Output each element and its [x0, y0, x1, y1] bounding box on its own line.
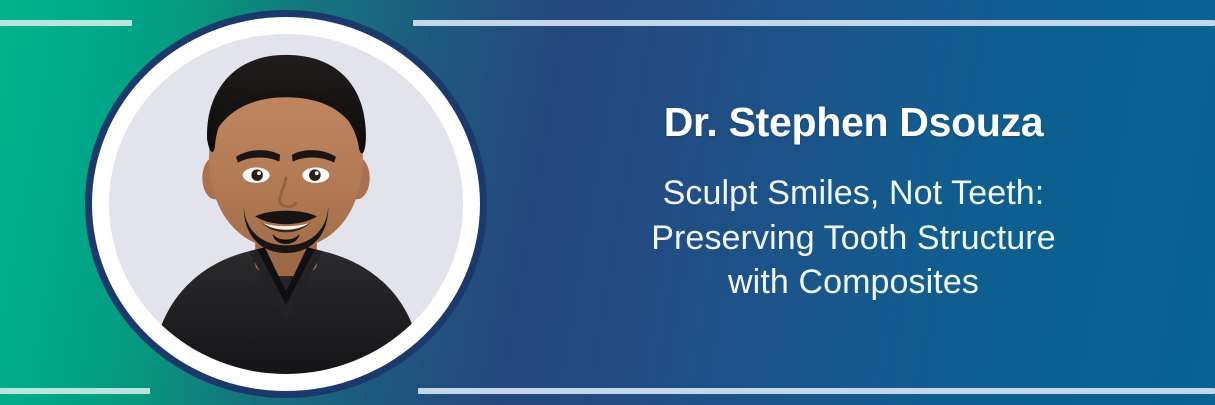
speaker-text-block: Dr. Stephen Dsouza Sculpt Smiles, Not Te…	[492, 0, 1215, 405]
avatar	[85, 10, 487, 398]
talk-title-line-1: Sculpt Smiles, Not Teeth:	[651, 171, 1056, 216]
talk-title-line-2: Preserving Tooth Structure	[651, 216, 1056, 261]
talk-title-line-3: with Composites	[651, 260, 1056, 305]
talk-title: Sculpt Smiles, Not Teeth: Preserving Too…	[651, 171, 1056, 306]
avatar-inner-ring	[92, 17, 480, 391]
avatar-outer-ring	[85, 10, 487, 398]
speaker-portrait-icon	[109, 34, 463, 374]
speaker-banner: Dr. Stephen Dsouza Sculpt Smiles, Not Te…	[0, 0, 1215, 405]
speaker-name: Dr. Stephen Dsouza	[664, 100, 1044, 145]
